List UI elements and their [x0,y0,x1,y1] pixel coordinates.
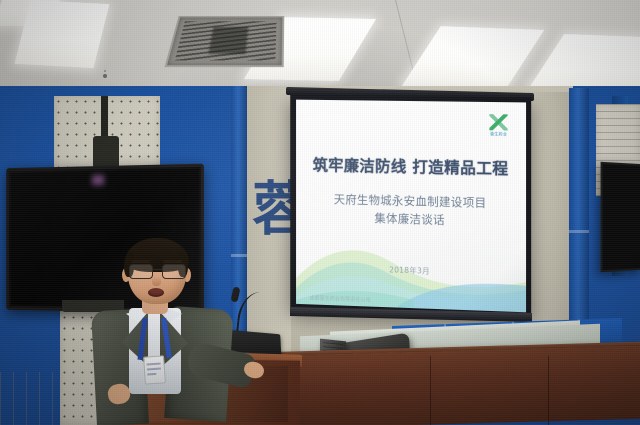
badge-text-line [147,368,161,371]
badge-text-line [147,363,161,366]
logo-wordmark: 蓉生药业 [487,131,509,137]
slide-company-logo: 蓉生药业 [487,114,509,141]
logo-mark-icon [489,114,507,130]
projector-unit [93,136,119,168]
presenter [96,236,246,425]
wall-chinese-character: 蓉 [252,176,292,246]
id-badge [143,355,166,384]
ceiling-light-panel [15,0,110,68]
conference-room-photo: 蓉 蓉生药业 筑牢廉洁防线 打造精品工程 天府生物城永安血制建设项目 [0,0,640,425]
glasses-bridge [152,269,162,270]
ceiling-air-vent [164,16,284,67]
eyebrow-left [131,260,150,263]
back-wall-beige-right [528,92,574,342]
glasses-lens-left [129,264,153,279]
glasses-lens-right [162,264,186,279]
nose [152,276,161,286]
pilaster-band [569,230,589,233]
slide-title: 筑牢廉洁防线 打造精品工程 [296,153,526,180]
table-seam [430,356,431,425]
table-seam [548,356,549,425]
sprinkler-head [103,74,107,78]
badge-text-line [147,373,156,375]
audience-seat-backs [0,372,62,425]
mouth [148,288,164,297]
wall-mounted-display-right[interactable] [601,162,640,273]
eyebrow-right [163,260,182,263]
vent-core-shadow [208,27,249,54]
projection-screen[interactable]: 蓉生药业 筑牢廉洁防线 打造精品工程 天府生物城永安血制建设项目 集体廉洁谈话 … [290,95,531,319]
projection-screen-surface: 蓉生药业 筑牢廉洁防线 打造精品工程 天府生物城永安血制建设项目 集体廉洁谈话 … [296,100,526,313]
display-glare [92,175,104,185]
wall-pilaster-right [569,88,589,346]
